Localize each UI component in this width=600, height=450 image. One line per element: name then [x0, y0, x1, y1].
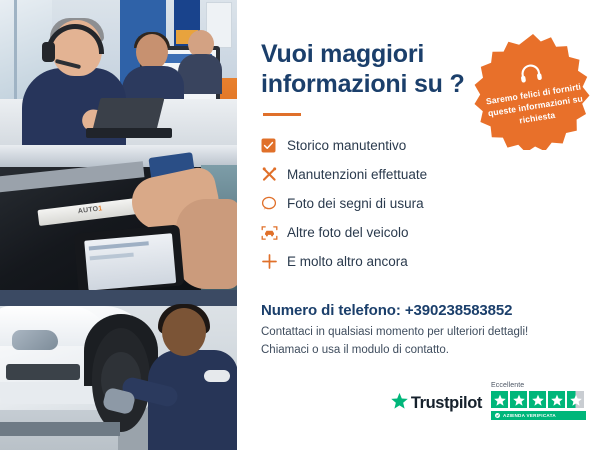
- star-icon: [529, 391, 546, 408]
- trustpilot-star-icon: [391, 392, 408, 414]
- rating-label: Eccellente: [491, 382, 524, 389]
- contact-line-2: Chiamaci o usa il modulo di contatto.: [261, 342, 578, 360]
- list-item: E molto altro ancora: [261, 247, 578, 276]
- contact-line-1: Contattaci in qualsiasi momento per ulte…: [261, 324, 578, 342]
- headset-icon: [517, 62, 544, 90]
- list-item-label: Storico manutentivo: [287, 138, 406, 153]
- list-item: Foto dei segni di usura: [261, 189, 578, 218]
- tools-cross-icon: [261, 166, 287, 183]
- badge-text: Saremo felici di fornirti queste informa…: [484, 82, 586, 132]
- photo-column: AUTO1: [0, 0, 237, 450]
- phone-number[interactable]: Numero di telefono: +390238583852: [261, 302, 578, 319]
- list-item-label: Foto dei segni di usura: [287, 196, 424, 211]
- trustpilot-wordmark: Trustpilot: [411, 394, 482, 413]
- trustpilot-widget[interactable]: Trustpilot Eccellente AZIENDA VERIFICATA: [391, 382, 586, 420]
- star-icon: [491, 391, 508, 408]
- star-icon: [548, 391, 565, 408]
- list-item-label: Altre foto del veicolo: [287, 225, 409, 240]
- promo-poster: AUTO1 Vuoi maggiori informazioni su ?: [0, 0, 600, 450]
- trustpilot-logo: Trustpilot: [391, 392, 482, 420]
- content-panel: Vuoi maggiori informazioni su ? Storico …: [237, 0, 600, 450]
- verified-label: AZIENDA VERIFICATA: [503, 413, 556, 418]
- vehicle-inspection-photo: AUTO1: [0, 145, 237, 290]
- star-icon-half: [567, 391, 584, 408]
- plus-icon: [261, 253, 287, 270]
- feature-list: Storico manutentivo Manutenzioni effettu…: [261, 131, 578, 276]
- speech-bubble-icon: [261, 196, 287, 211]
- title-divider: [263, 113, 301, 116]
- list-item: Manutenzioni effettuate: [261, 160, 578, 189]
- page-title: Vuoi maggiori informazioni su ?: [261, 40, 476, 99]
- garage-mechanic-photo: [0, 290, 237, 450]
- call-center-photo: [0, 0, 237, 145]
- star-rating: [491, 391, 584, 408]
- star-icon: [510, 391, 527, 408]
- trustpilot-rating: Eccellente AZIENDA VERIFICATA: [491, 382, 586, 420]
- list-item-label: E molto altro ancora: [287, 254, 408, 269]
- verified-company-badge: AZIENDA VERIFICATA: [491, 411, 586, 420]
- list-item-label: Manutenzioni effettuate: [287, 167, 427, 182]
- checkbox-checked-icon: [261, 138, 287, 153]
- contact-block: Numero di telefono: +390238583852 Contat…: [261, 302, 578, 360]
- callout-badge: Saremo felici di fornirti queste informa…: [474, 32, 592, 150]
- car-scan-icon: [261, 225, 287, 241]
- list-item: Altre foto del veicolo: [261, 218, 578, 247]
- check-circle-icon: [495, 413, 500, 418]
